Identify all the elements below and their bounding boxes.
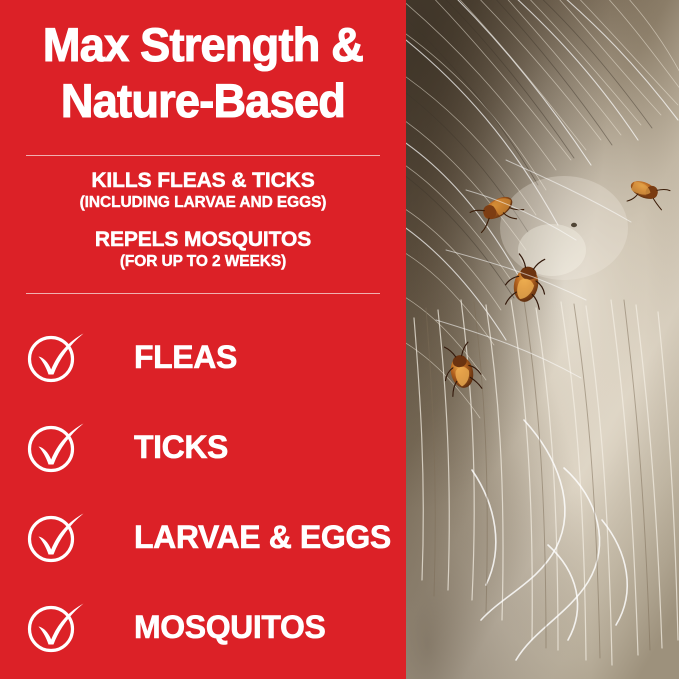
headline-line-2: Nature-Based — [8, 73, 398, 129]
promo-infographic: Max Strength & Nature-Based KILLS FLEAS … — [0, 0, 679, 679]
check-circle-icon — [24, 508, 90, 566]
fur-with-fleas-photo — [406, 0, 679, 679]
headline: Max Strength & Nature-Based — [0, 17, 406, 129]
claim-main-text: KILLS FLEAS & TICKS — [0, 168, 406, 193]
claim-sub-text: (FOR UP TO 2 WEEKS) — [0, 252, 406, 271]
list-item-label: LARVAE & EGGS — [134, 520, 391, 554]
list-item: TICKS — [0, 402, 406, 492]
list-item-label: TICKS — [134, 430, 228, 464]
list-item-label: MOSQUITOS — [134, 610, 325, 644]
fur-photo-illustration — [406, 0, 679, 679]
claims-block: KILLS FLEAS & TICKS (INCLUDING LARVAE AN… — [0, 168, 406, 271]
claim-group-mosquitos: REPELS MOSQUITOS (FOR UP TO 2 WEEKS) — [0, 227, 406, 271]
claim-group-fleas-ticks: KILLS FLEAS & TICKS (INCLUDING LARVAE AN… — [0, 168, 406, 212]
list-item-label: FLEAS — [134, 340, 237, 374]
red-info-panel: Max Strength & Nature-Based KILLS FLEAS … — [0, 0, 406, 679]
list-item: FLEAS — [0, 312, 406, 402]
check-circle-icon — [24, 418, 90, 476]
benefit-checklist: FLEAS TICKS LARVAE & EGGS — [0, 312, 406, 672]
list-item: MOSQUITOS — [0, 582, 406, 672]
debris-speck — [571, 223, 577, 227]
check-circle-icon — [24, 598, 90, 656]
headline-line-1: Max Strength & — [8, 17, 398, 73]
divider-top — [26, 155, 380, 156]
check-circle-icon — [24, 328, 90, 386]
list-item: LARVAE & EGGS — [0, 492, 406, 582]
claim-sub-text: (INCLUDING LARVAE AND EGGS) — [0, 193, 406, 212]
claim-main-text: REPELS MOSQUITOS — [0, 227, 406, 252]
divider-bottom — [26, 293, 380, 294]
